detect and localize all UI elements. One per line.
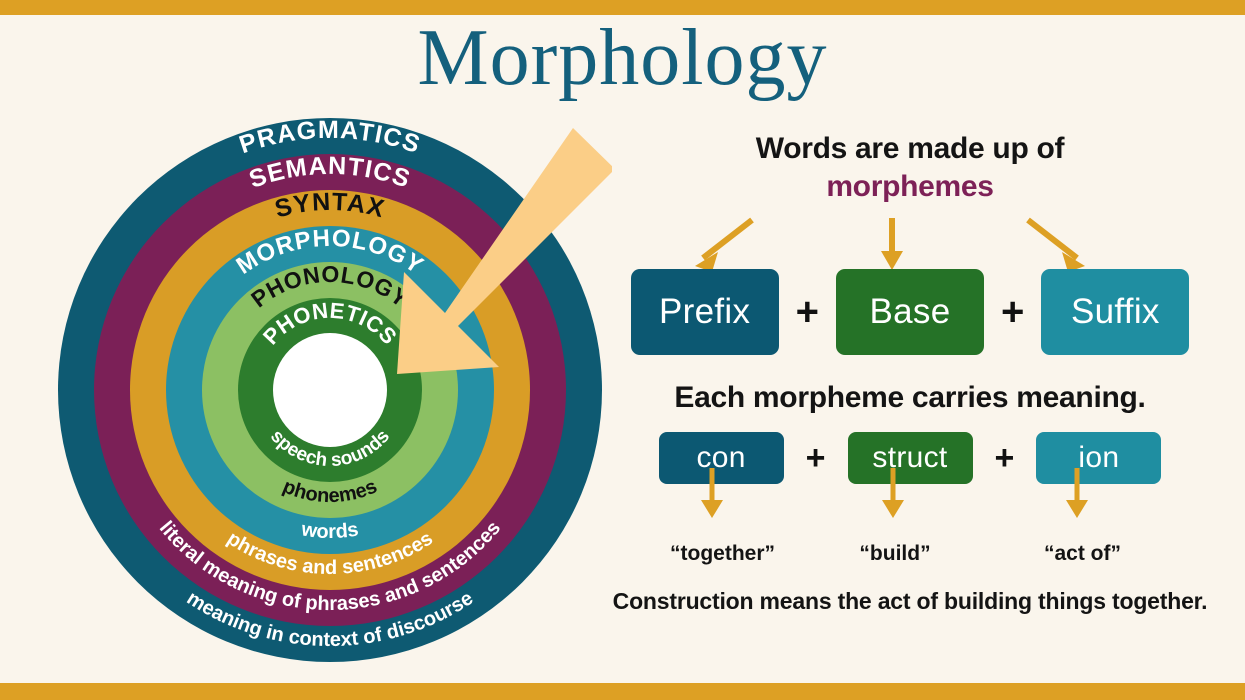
gloss-struct: “build” <box>803 542 988 566</box>
gloss-row: “together” “build” “act of” <box>600 542 1220 566</box>
headline-accent-morphemes: morphemes <box>826 170 993 203</box>
plus-operator-1: + <box>796 292 819 332</box>
box-prefix[interactable]: Prefix <box>631 269 779 355</box>
plus-operator-2: + <box>1001 292 1024 332</box>
top-accent-bar <box>0 0 1245 15</box>
plus-operator-4: + <box>995 441 1015 475</box>
box-ion-label: ion <box>1078 441 1119 475</box>
page-title: Morphology <box>0 14 1245 102</box>
box-struct-label: struct <box>872 441 947 475</box>
summary-sentence: Construction means the act of building t… <box>600 588 1220 615</box>
box-base[interactable]: Base <box>836 269 984 355</box>
box-suffix-label: Suffix <box>1071 292 1160 332</box>
box-suffix[interactable]: Suffix <box>1041 269 1189 355</box>
sub-heading: Each morpheme carries meaning. <box>600 381 1220 415</box>
bottom-accent-bar <box>0 683 1245 700</box>
linguistics-levels-diagram: PRAGMATICS SEMANTICS SYNTAX MORPHOLOGY P… <box>52 112 612 672</box>
ring-center-hole <box>273 333 387 447</box>
box-con-label: con <box>697 441 746 475</box>
morpheme-example-row: con + struct + ion <box>600 432 1220 484</box>
box-con[interactable]: con <box>659 432 784 484</box>
morphemes-panel: Words are made up of morphemes Prefix + … <box>600 130 1220 650</box>
headline: Words are made up of morphemes <box>600 130 1220 207</box>
box-prefix-label: Prefix <box>659 292 750 332</box>
box-struct[interactable]: struct <box>848 432 973 484</box>
box-ion[interactable]: ion <box>1036 432 1161 484</box>
gloss-ion: “act of” <box>988 542 1178 566</box>
ring-sublabel-morphology: words <box>299 518 360 543</box>
gloss-con: “together” <box>643 542 803 566</box>
plus-operator-3: + <box>806 441 826 475</box>
box-base-label: Base <box>870 292 951 332</box>
headline-line1: Words are made up of <box>756 132 1065 165</box>
morpheme-structure-row: Prefix + Base + Suffix <box>600 269 1220 355</box>
